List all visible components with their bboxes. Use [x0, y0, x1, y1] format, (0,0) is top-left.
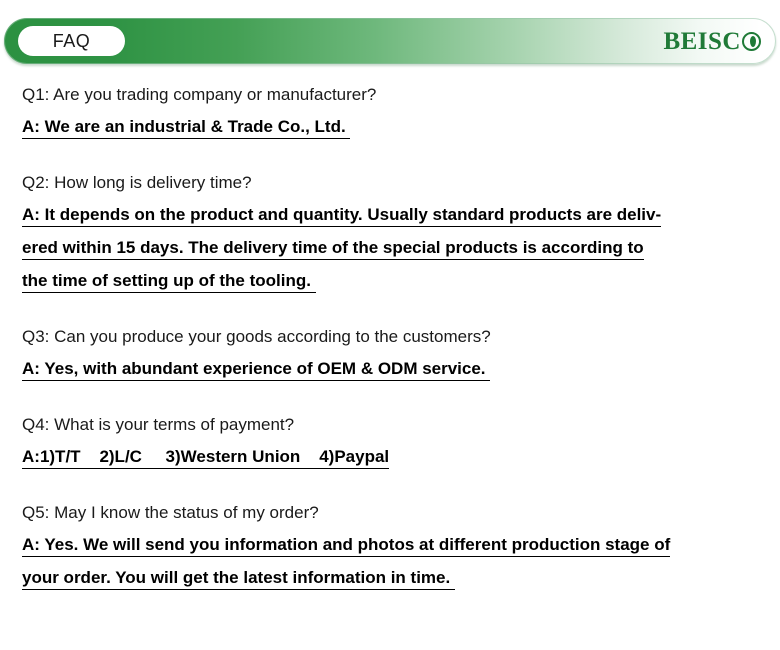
- brand-logo-text: BEISC: [663, 29, 741, 54]
- faq-question: Q2: How long is delivery time?: [22, 168, 762, 198]
- faq-question: Q1: Are you trading company or manufactu…: [22, 80, 762, 110]
- faq-answer-text: A: Yes, with abundant experience of OEM …: [22, 359, 490, 381]
- faq-list: Q1: Are you trading company or manufactu…: [22, 80, 762, 594]
- faq-answer-line: ered within 15 days. The delivery time o…: [22, 231, 762, 264]
- faq-item: Q3: Can you produce your goods according…: [22, 322, 762, 385]
- faq-answer-text: A: Yes. We will send you information and…: [22, 535, 670, 557]
- faq-answer-line: A: We are an industrial & Trade Co., Ltd…: [22, 110, 762, 143]
- page-header: FAQ BEISC: [0, 18, 780, 66]
- faq-answer-text: the time of setting up of the tooling.: [22, 271, 316, 293]
- circle-leaf-icon: [742, 29, 764, 54]
- faq-item: Q4: What is your terms of payment?A:1)T/…: [22, 410, 762, 473]
- faq-answer-text: A: It depends on the product and quantit…: [22, 205, 661, 227]
- faq-answer-line: A:1)T/T 2)L/C 3)Western Union 4)Paypal: [22, 440, 762, 473]
- faq-answer-text: A: We are an industrial & Trade Co., Ltd…: [22, 117, 350, 139]
- brand-logo: BEISC: [663, 27, 764, 55]
- faq-answer: A: We are an industrial & Trade Co., Ltd…: [22, 110, 762, 143]
- faq-tab[interactable]: FAQ: [18, 26, 125, 56]
- faq-answer: A:1)T/T 2)L/C 3)Western Union 4)Paypal: [22, 440, 762, 473]
- faq-answer: A: It depends on the product and quantit…: [22, 198, 762, 297]
- faq-answer-line: A: Yes. We will send you information and…: [22, 528, 762, 561]
- faq-answer-text: A:1)T/T 2)L/C 3)Western Union 4)Paypal: [22, 447, 389, 469]
- faq-answer: A: Yes. We will send you information and…: [22, 528, 762, 594]
- faq-answer-line: your order. You will get the latest info…: [22, 561, 762, 594]
- faq-question: Q5: May I know the status of my order?: [22, 498, 762, 528]
- faq-item: Q2: How long is delivery time?A: It depe…: [22, 168, 762, 297]
- faq-answer-line: A: Yes, with abundant experience of OEM …: [22, 352, 762, 385]
- faq-answer-text: your order. You will get the latest info…: [22, 568, 455, 590]
- faq-tab-label: FAQ: [53, 32, 91, 50]
- faq-answer-line: the time of setting up of the tooling.: [22, 264, 762, 297]
- faq-item: Q1: Are you trading company or manufactu…: [22, 80, 762, 143]
- faq-item: Q5: May I know the status of my order?A:…: [22, 498, 762, 594]
- faq-answer: A: Yes, with abundant experience of OEM …: [22, 352, 762, 385]
- faq-answer-text: ered within 15 days. The delivery time o…: [22, 238, 644, 260]
- faq-answer-line: A: It depends on the product and quantit…: [22, 198, 762, 231]
- faq-question: Q3: Can you produce your goods according…: [22, 322, 762, 352]
- faq-question: Q4: What is your terms of payment?: [22, 410, 762, 440]
